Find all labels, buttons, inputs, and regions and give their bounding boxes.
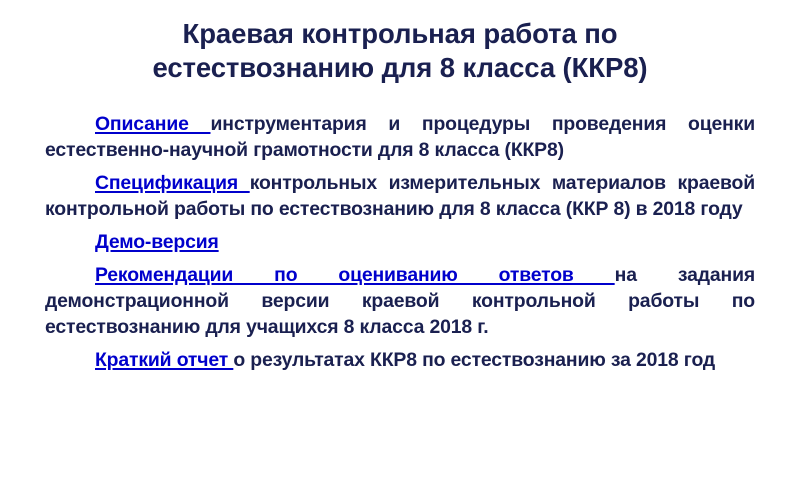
link-rekomendacii[interactable]: Рекомендации по оцениванию ответов	[95, 264, 615, 286]
list-item-kratkiy-otchet-text: о результатах ККР8 по естествознанию за …	[233, 349, 715, 371]
page-title-line-2: естествознанию для 8 класса (ККР8)	[153, 52, 648, 83]
list-item-specifikaciya: Спецификация контрольных измерительных м…	[45, 170, 755, 222]
content-list: Описание инструментария и процедуры пров…	[45, 111, 755, 373]
page-title: Краевая контрольная работа по естествозн…	[60, 17, 740, 85]
link-kratkiy-otchet[interactable]: Краткий отчет	[95, 349, 233, 371]
link-specifikaciya[interactable]: Спецификация	[95, 172, 250, 194]
link-demo-versiya[interactable]: Демо-версия	[95, 231, 219, 253]
list-item-rekomendacii: Рекомендации по оцениванию ответов на за…	[45, 262, 755, 340]
list-item-opisanie: Описание инструментария и процедуры пров…	[45, 111, 755, 163]
list-item-demo-versiya: Демо-версия	[45, 229, 755, 255]
page-title-line-1: Краевая контрольная работа по	[183, 18, 618, 49]
link-opisanie[interactable]: Описание	[95, 113, 210, 135]
list-item-kratkiy-otchet: Краткий отчет о результатах ККР8 по есте…	[45, 347, 755, 373]
slide-canvas: Краевая контрольная работа по естествозн…	[0, 0, 800, 482]
